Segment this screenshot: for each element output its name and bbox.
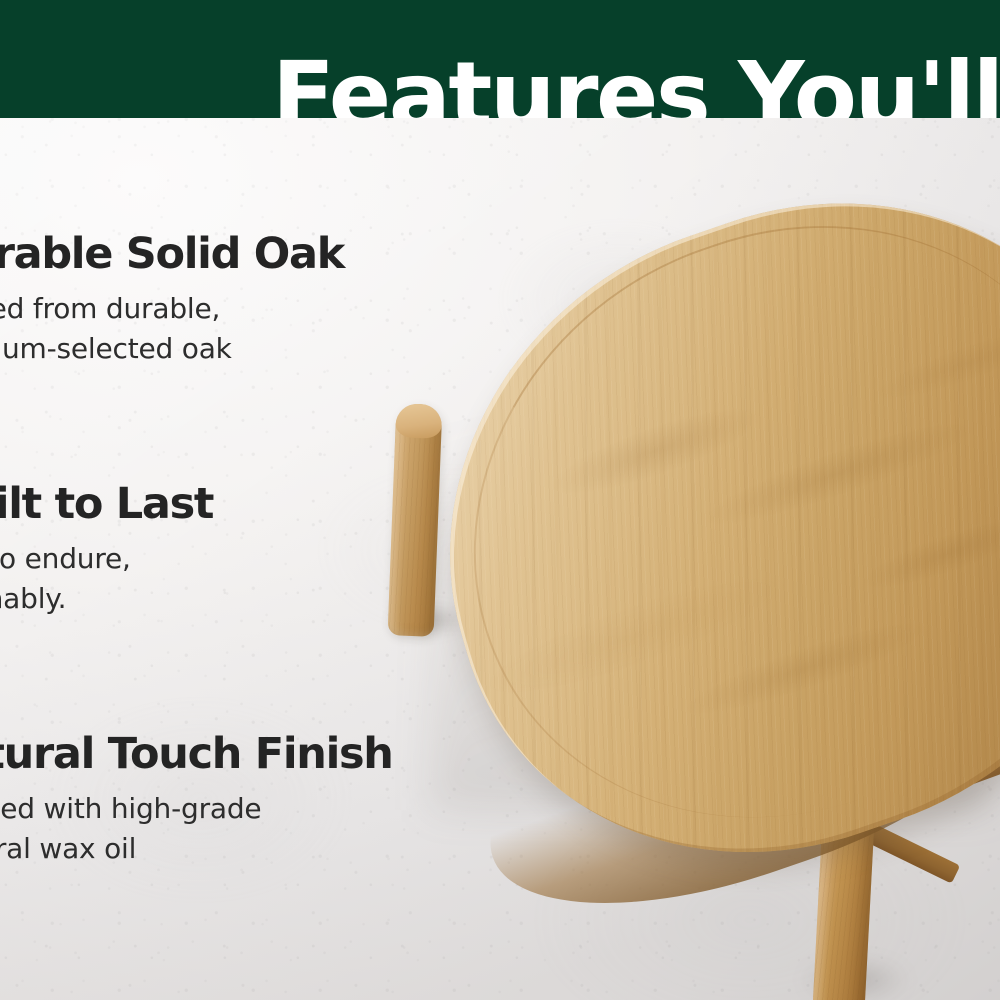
tabletop-surface	[378, 115, 1000, 940]
page-title: Features You'll Love	[272, 50, 1000, 118]
feature-description: Crafted from durable, premium-selected o…	[0, 289, 470, 369]
feature-list: Durable Solid Oak Crafted from durable, …	[0, 0, 470, 1000]
feature-item-durable-solid-oak: Durable Solid Oak Crafted from durable, …	[0, 232, 470, 369]
tabletop-rim	[378, 115, 1000, 940]
feature-description: Made to endure, sustainably.	[0, 539, 470, 619]
feature-description: Treated with high-grade natural wax oil	[0, 789, 470, 869]
feature-item-natural-touch-finish: Natural Touch Finish Treated with high-g…	[0, 732, 470, 869]
feature-title: Durable Solid Oak	[0, 232, 470, 277]
poster-canvas: Features You'll Love Durable Solid Oak C…	[0, 0, 1000, 1000]
feature-title: Built to Last	[0, 482, 470, 527]
feature-item-built-to-last: Built to Last Made to endure, sustainabl…	[0, 482, 470, 619]
header-band: Features You'll Love	[0, 0, 1000, 118]
feature-title: Natural Touch Finish	[0, 732, 470, 777]
